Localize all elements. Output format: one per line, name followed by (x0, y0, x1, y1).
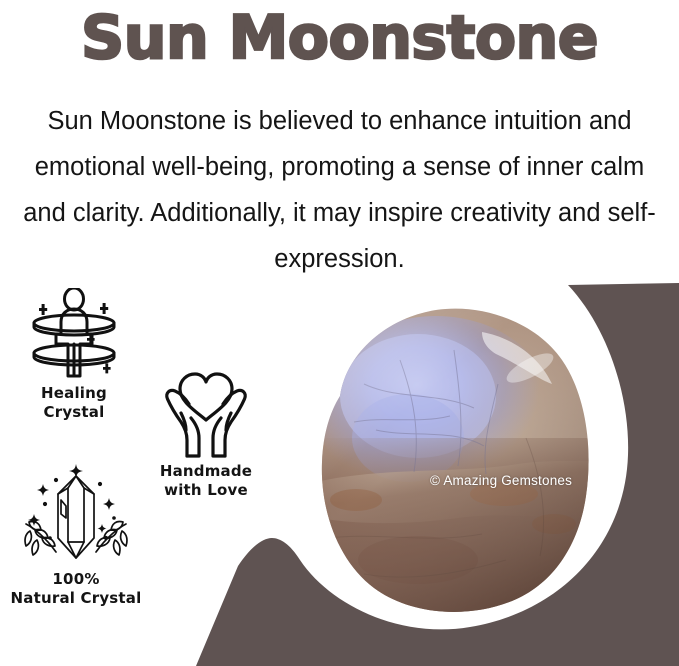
badge-label: Healing Crystal (4, 384, 144, 422)
page-title: Sun Moonstone (0, 2, 679, 74)
badge-handmade-with-love: Handmade with Love (136, 368, 276, 500)
badge-healing-crystal: Healing Crystal (4, 288, 144, 422)
crystal-laurel-icon (14, 462, 138, 566)
copyright-watermark: © Amazing Gemstones (430, 473, 572, 488)
badge-label: 100% Natural Crystal (0, 570, 152, 608)
product-image (268, 288, 618, 623)
aura-figure-icon (18, 288, 130, 380)
badge-natural-crystal: 100% Natural Crystal (0, 462, 152, 608)
product-description: Sun Moonstone is believed to enhance int… (12, 98, 667, 282)
badge-label: Handmade with Love (136, 462, 276, 500)
hands-heart-icon (154, 368, 258, 458)
